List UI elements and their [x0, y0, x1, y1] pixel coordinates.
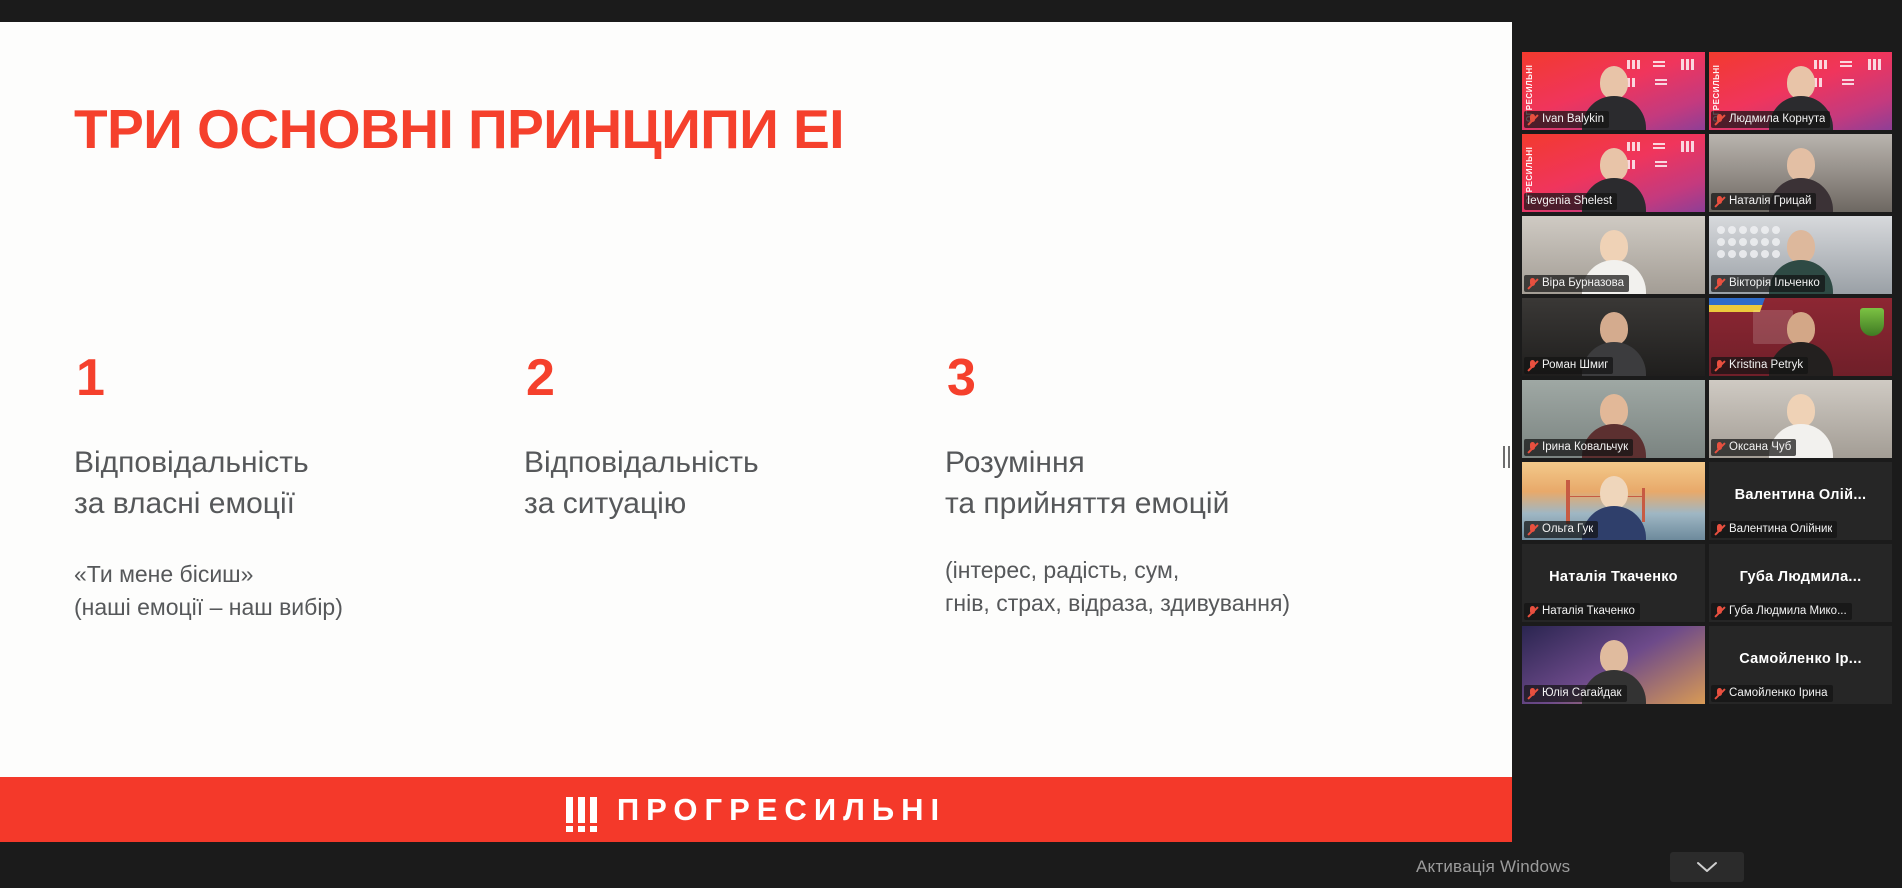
principle-subtext-1: «Ти мене бісиш» (наші емоції – наш вибір…: [74, 558, 444, 623]
participant-name: Губа Людмила Мико...: [1729, 604, 1847, 618]
principle-heading-2: Відповідальність за ситуацію: [524, 442, 854, 524]
page-title: ТРИ ОСНОВНІ ПРИНЦИПИ ЕІ: [74, 102, 844, 157]
participant-nameplate: Оксана Чуб: [1711, 439, 1796, 456]
microphone-muted-icon: [1714, 687, 1725, 700]
participant-nameplate: Наталія Ткаченко: [1524, 603, 1640, 620]
microphone-muted-icon: [1714, 277, 1725, 290]
participant-nameplate: Валентина Олійник: [1711, 521, 1837, 538]
microphone-muted-icon: [1527, 277, 1538, 290]
microphone-muted-icon: [1714, 605, 1725, 618]
participant-nameplate: Наталія Грицай: [1711, 193, 1816, 210]
participant-name: Ірина Ковальчук: [1542, 440, 1628, 454]
participant-name: Вікторія Ільченко: [1729, 276, 1820, 290]
participant-tile[interactable]: ОГРЕСИЛЬНІЛюдмила Корнута: [1709, 52, 1892, 130]
participant-name: Наталія Ткаченко: [1542, 604, 1635, 618]
participant-nameplate: Ірина Ковальчук: [1524, 439, 1633, 456]
participant-nameplate: Губа Людмила Мико...: [1711, 603, 1852, 620]
participant-nameplate: Роман Шмиг: [1524, 357, 1613, 374]
participant-name: Ievgenia Shelest: [1527, 194, 1612, 208]
microphone-muted-icon: [1527, 359, 1538, 372]
participant-name: Наталія Грицай: [1729, 194, 1811, 208]
microphone-muted-icon: [1714, 523, 1725, 536]
participant-name: Оксана Чуб: [1729, 440, 1791, 454]
participant-nameplate: Самойленко Ірина: [1711, 685, 1833, 702]
principle-number-1: 1: [76, 352, 444, 404]
participant-tile[interactable]: Губа Людмила...Губа Людмила Мико...: [1709, 544, 1892, 622]
brand-wordmark: ПРОГРЕСИЛЬНІ: [617, 792, 946, 828]
participant-nameplate: Юлія Сагайдак: [1524, 685, 1627, 702]
microphone-muted-icon: [1714, 441, 1725, 454]
participant-tile[interactable]: Валентина Олій...Валентина Олійник: [1709, 462, 1892, 540]
participant-tile[interactable]: Наталія Грицай: [1709, 134, 1892, 212]
principle-column-1: 1 Відповідальність за власні емоції «Ти …: [74, 352, 444, 624]
participant-tile[interactable]: Ольга Гук: [1522, 462, 1705, 540]
microphone-muted-icon: [1527, 113, 1538, 126]
chevron-down-icon: [1696, 861, 1718, 873]
brand-logo: ПРОГРЕСИЛЬНІ: [566, 792, 946, 828]
zoom-meeting-window: ТРИ ОСНОВНІ ПРИНЦИПИ ЕІ 1 Відповідальніс…: [0, 0, 1902, 888]
participant-video-panel: ОГРЕСИЛЬНІIvan BalykinОГРЕСИЛЬНІЛюдмила …: [1512, 0, 1902, 888]
participant-tile-grid: ОГРЕСИЛЬНІIvan BalykinОГРЕСИЛЬНІЛюдмила …: [1522, 52, 1892, 704]
participant-nameplate: Віра Бурназова: [1524, 275, 1629, 292]
participant-tile[interactable]: Kristina Petryk: [1709, 298, 1892, 376]
participant-tile[interactable]: Наталія ТкаченкоНаталія Ткаченко: [1522, 544, 1705, 622]
microphone-muted-icon: [1714, 359, 1725, 372]
principle-heading-3: Розуміння та прийняття емоцій: [945, 442, 1405, 524]
microphone-muted-icon: [1527, 441, 1538, 454]
participant-tile[interactable]: ОГРЕСИЛЬНІIvan Balykin: [1522, 52, 1705, 130]
participant-nameplate: Вікторія Ільченко: [1711, 275, 1825, 292]
principle-column-2: 2 Відповідальність за ситуацію: [524, 352, 854, 556]
participant-nameplate: Kristina Petryk: [1711, 357, 1808, 374]
participant-nameplate: Людмила Корнута: [1711, 111, 1830, 128]
presentation-slide: ТРИ ОСНОВНІ ПРИНЦИПИ ЕІ 1 Відповідальніс…: [0, 22, 1512, 842]
slide-footer-band: ПРОГРЕСИЛЬНІ: [0, 777, 1512, 842]
participant-nameplate: Ольга Гук: [1524, 521, 1598, 538]
panel-expand-button[interactable]: [1670, 852, 1744, 882]
participant-name: Kristina Petryk: [1729, 358, 1803, 372]
participant-tile[interactable]: Юлія Сагайдак: [1522, 626, 1705, 704]
microphone-muted-icon: [1527, 523, 1538, 536]
microphone-muted-icon: [1527, 687, 1538, 700]
panel-resize-handle[interactable]: [1500, 444, 1512, 470]
participant-tile[interactable]: Самойленко Ір...Самойленко Ірина: [1709, 626, 1892, 704]
participant-name: Віра Бурназова: [1542, 276, 1624, 290]
participant-tile[interactable]: Вікторія Ільченко: [1709, 216, 1892, 294]
participant-tile[interactable]: Ірина Ковальчук: [1522, 380, 1705, 458]
participant-name: Валентина Олійник: [1729, 522, 1832, 536]
participant-name: Роман Шмиг: [1542, 358, 1608, 372]
shared-screen-area: ТРИ ОСНОВНІ ПРИНЦИПИ ЕІ 1 Відповідальніс…: [0, 0, 1512, 888]
participant-name: Юлія Сагайдак: [1542, 686, 1622, 700]
participant-name: Ольга Гук: [1542, 522, 1593, 536]
participant-nameplate: Ievgenia Shelest: [1524, 193, 1617, 210]
participant-name: Ivan Balykin: [1542, 112, 1604, 126]
participant-tile[interactable]: Роман Шмиг: [1522, 298, 1705, 376]
participant-tile[interactable]: ОГРЕСИЛЬНІIevgenia Shelest: [1522, 134, 1705, 212]
principle-column-3: 3 Розуміння та прийняття емоцій (інтерес…: [945, 352, 1405, 620]
participant-name: Самойленко Ірина: [1729, 686, 1828, 700]
principle-subtext-3: (інтерес, радість, сум, гнів, страх, від…: [945, 554, 1405, 619]
principle-heading-1: Відповідальність за власні емоції: [74, 442, 444, 524]
participant-nameplate: Ivan Balykin: [1524, 111, 1609, 128]
participant-name: Людмила Корнута: [1729, 112, 1825, 126]
participant-tile[interactable]: Віра Бурназова: [1522, 216, 1705, 294]
principle-number-2: 2: [526, 352, 854, 404]
microphone-muted-icon: [1714, 113, 1725, 126]
microphone-muted-icon: [1714, 195, 1725, 208]
principle-number-3: 3: [947, 352, 1405, 404]
three-exclamation-icon: [566, 797, 597, 823]
participant-tile[interactable]: Оксана Чуб: [1709, 380, 1892, 458]
microphone-muted-icon: [1527, 605, 1538, 618]
